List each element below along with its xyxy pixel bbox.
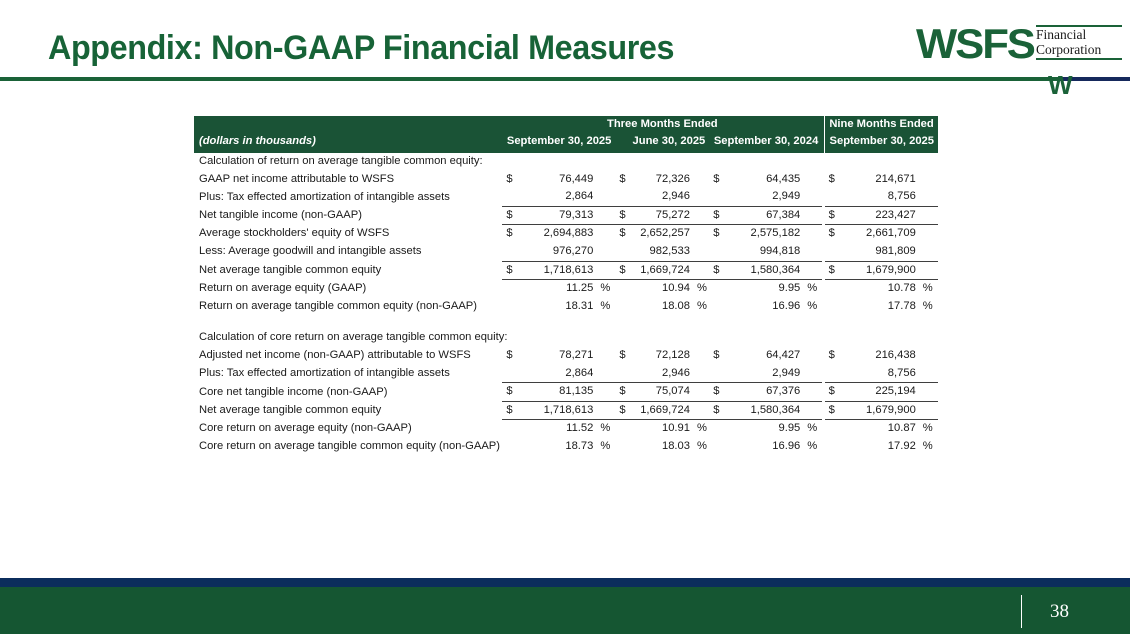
percent-symbol: %: [694, 280, 709, 298]
cell-value: 10.87: [841, 420, 920, 438]
currency-symbol: $: [825, 261, 841, 280]
cell-value: 2,864: [518, 188, 597, 206]
table-row: Return on average equity (GAAP)11.25%10.…: [194, 280, 938, 298]
percent-symbol: [804, 188, 822, 206]
row-label: Return on average tangible common equity…: [194, 298, 502, 316]
percent-symbol: [694, 383, 709, 402]
currency-symbol: [709, 365, 725, 383]
percent-symbol: %: [694, 298, 709, 316]
section-heading: Calculation of core return on average ta…: [194, 329, 938, 347]
percent-symbol: [920, 206, 938, 225]
cell-value: 225,194: [841, 383, 920, 402]
cell-value: 8,756: [841, 188, 920, 206]
table-row: Plus: Tax effected amortization of intan…: [194, 365, 938, 383]
cell-value: 9.95: [725, 420, 804, 438]
page-title: Appendix: Non-GAAP Financial Measures: [48, 29, 674, 68]
cell-value: 17.92: [841, 438, 920, 456]
section-heading-row: Calculation of return on average tangibl…: [194, 153, 938, 171]
group-header-nine-months: Nine Months Ended: [825, 116, 938, 132]
percent-symbol: %: [920, 420, 938, 438]
cell-value: 18.31: [518, 298, 597, 316]
row-label: Plus: Tax effected amortization of intan…: [194, 365, 502, 383]
cell-value: 16.96: [725, 298, 804, 316]
currency-symbol: $: [502, 347, 518, 365]
percent-symbol: [597, 347, 615, 365]
currency-symbol: $: [502, 383, 518, 402]
cell-value: 2,949: [725, 188, 804, 206]
percent-symbol: [597, 225, 615, 243]
percent-symbol: [597, 243, 615, 261]
currency-symbol: $: [709, 347, 725, 365]
cell-value: 2,864: [518, 365, 597, 383]
percent-symbol: [694, 243, 709, 261]
cell-value: 1,580,364: [725, 261, 804, 280]
currency-symbol: [825, 420, 841, 438]
percent-symbol: [920, 243, 938, 261]
group-header-blank: [194, 116, 502, 132]
logo-chevron-w: W: [1048, 72, 1071, 98]
currency-symbol: [615, 420, 628, 438]
cell-value: 223,427: [841, 206, 920, 225]
currency-symbol: [502, 188, 518, 206]
percent-symbol: [804, 365, 822, 383]
percent-symbol: [694, 365, 709, 383]
cell-value: 17.78: [841, 298, 920, 316]
footer-divider: [1021, 595, 1022, 628]
logo-subtext-corporation: Corporation: [1036, 43, 1122, 58]
percent-symbol: [694, 347, 709, 365]
cell-value: 10.94: [628, 280, 694, 298]
percent-symbol: [597, 365, 615, 383]
table-body: Calculation of return on average tangibl…: [194, 153, 938, 456]
cell-value: 16.96: [725, 438, 804, 456]
currency-symbol: $: [709, 225, 725, 243]
currency-symbol: $: [502, 261, 518, 280]
cell-value: 216,438: [841, 347, 920, 365]
currency-symbol: $: [615, 383, 628, 402]
currency-symbol: [825, 243, 841, 261]
footer-navy-stripe: [0, 578, 1130, 587]
currency-symbol: [502, 298, 518, 316]
column-header-sep-2025: September 30, 2025: [502, 132, 615, 153]
cell-value: 11.25: [518, 280, 597, 298]
percent-symbol: [694, 225, 709, 243]
row-label: Core return on average tangible common e…: [194, 438, 502, 456]
section-spacer: [194, 315, 938, 329]
cell-value: 64,435: [725, 171, 804, 189]
logo-subtext-financial: Financial: [1036, 28, 1122, 43]
percent-symbol: %: [920, 438, 938, 456]
row-label: Net average tangible common equity: [194, 401, 502, 420]
percent-symbol: %: [694, 438, 709, 456]
currency-symbol: $: [709, 171, 725, 189]
currency-symbol: [825, 365, 841, 383]
percent-symbol: %: [920, 280, 938, 298]
currency-symbol: [709, 188, 725, 206]
currency-symbol: $: [615, 401, 628, 420]
row-label: Return on average equity (GAAP): [194, 280, 502, 298]
percent-symbol: [920, 401, 938, 420]
currency-symbol: [502, 365, 518, 383]
section-heading-row: Calculation of core return on average ta…: [194, 329, 938, 347]
cell-value: 2,949: [725, 365, 804, 383]
percent-symbol: [597, 206, 615, 225]
currency-symbol: $: [825, 171, 841, 189]
currency-symbol: [825, 280, 841, 298]
cell-value: 1,718,613: [518, 401, 597, 420]
cell-value: 2,652,257: [628, 225, 694, 243]
currency-symbol: [709, 438, 725, 456]
percent-symbol: %: [804, 438, 822, 456]
cell-value: 67,384: [725, 206, 804, 225]
table-row: Plus: Tax effected amortization of intan…: [194, 188, 938, 206]
percent-symbol: %: [597, 420, 615, 438]
table-row: Net average tangible common equity$1,718…: [194, 261, 938, 280]
cell-value: 2,694,883: [518, 225, 597, 243]
percent-symbol: [804, 206, 822, 225]
percent-symbol: [694, 261, 709, 280]
cell-value: 2,575,182: [725, 225, 804, 243]
cell-value: 72,326: [628, 171, 694, 189]
cell-value: 8,756: [841, 365, 920, 383]
cell-value: 981,809: [841, 243, 920, 261]
percent-symbol: %: [597, 280, 615, 298]
non-gaap-reconciliation-table: Three Months Ended Nine Months Ended (do…: [194, 116, 938, 456]
currency-symbol: [709, 420, 725, 438]
currency-symbol: [709, 243, 725, 261]
row-label: Adjusted net income (non-GAAP) attributa…: [194, 347, 502, 365]
percent-symbol: [920, 383, 938, 402]
currency-symbol: $: [502, 171, 518, 189]
cell-value: 75,272: [628, 206, 694, 225]
logo-wordmark: WSFS: [916, 24, 1034, 64]
column-header-jun-2025: June 30, 2025: [615, 132, 709, 153]
currency-symbol: $: [502, 206, 518, 225]
row-label: Core return on average equity (non-GAAP): [194, 420, 502, 438]
currency-symbol: [502, 420, 518, 438]
currency-symbol: [615, 243, 628, 261]
percent-symbol: [597, 188, 615, 206]
cell-value: 78,271: [518, 347, 597, 365]
currency-symbol: $: [825, 225, 841, 243]
cell-value: 1,679,900: [841, 261, 920, 280]
cell-value: 11.52: [518, 420, 597, 438]
table-row: Average stockholders' equity of WSFS$2,6…: [194, 225, 938, 243]
table-row: GAAP net income attributable to WSFS$76,…: [194, 171, 938, 189]
currency-symbol: $: [709, 206, 725, 225]
section-heading: Calculation of return on average tangibl…: [194, 153, 938, 171]
percent-symbol: %: [597, 298, 615, 316]
percent-symbol: [804, 225, 822, 243]
currency-symbol: $: [825, 347, 841, 365]
currency-symbol: [825, 298, 841, 316]
percent-symbol: [597, 261, 615, 280]
cell-value: 79,313: [518, 206, 597, 225]
table-row: Return on average tangible common equity…: [194, 298, 938, 316]
currency-symbol: $: [615, 171, 628, 189]
percent-symbol: [694, 401, 709, 420]
row-label: Net tangible income (non-GAAP): [194, 206, 502, 225]
currency-symbol: [615, 280, 628, 298]
slide-header: Appendix: Non-GAAP Financial Measures WS…: [0, 0, 1130, 100]
currency-symbol: [615, 188, 628, 206]
percent-symbol: [920, 225, 938, 243]
cell-value: 1,669,724: [628, 261, 694, 280]
cell-value: 982,533: [628, 243, 694, 261]
row-label: Plus: Tax effected amortization of intan…: [194, 188, 502, 206]
table-row: Core return on average equity (non-GAAP)…: [194, 420, 938, 438]
currency-symbol: [709, 298, 725, 316]
cell-value: 2,661,709: [841, 225, 920, 243]
currency-symbol: $: [502, 401, 518, 420]
cell-value: 10.91: [628, 420, 694, 438]
percent-symbol: [804, 401, 822, 420]
column-header-ytd-sep-2025: September 30, 2025: [825, 132, 938, 153]
cell-value: 76,449: [518, 171, 597, 189]
percent-symbol: [694, 206, 709, 225]
row-label: Net average tangible common equity: [194, 261, 502, 280]
percent-symbol: %: [804, 420, 822, 438]
cell-value: 1,718,613: [518, 261, 597, 280]
units-note: (dollars in thousands): [194, 132, 502, 153]
cell-value: 2,946: [628, 365, 694, 383]
group-header-three-months: Three Months Ended: [502, 116, 822, 132]
currency-symbol: [615, 438, 628, 456]
cell-value: 64,427: [725, 347, 804, 365]
table-row: Core net tangible income (non-GAAP)$81,1…: [194, 383, 938, 402]
table-column-header-row: (dollars in thousands) September 30, 202…: [194, 132, 938, 153]
currency-symbol: $: [615, 347, 628, 365]
cell-value: 10.78: [841, 280, 920, 298]
wsfs-logo: WSFS Financial Corporation: [916, 24, 1122, 64]
currency-symbol: $: [709, 383, 725, 402]
currency-symbol: [825, 438, 841, 456]
cell-value: 18.08: [628, 298, 694, 316]
row-label: Less: Average goodwill and intangible as…: [194, 243, 502, 261]
percent-symbol: [804, 171, 822, 189]
percent-symbol: %: [804, 298, 822, 316]
percent-symbol: [920, 188, 938, 206]
percent-symbol: %: [597, 438, 615, 456]
cell-value: 1,679,900: [841, 401, 920, 420]
currency-symbol: $: [615, 261, 628, 280]
percent-symbol: %: [804, 280, 822, 298]
cell-value: 81,135: [518, 383, 597, 402]
cell-value: 976,270: [518, 243, 597, 261]
currency-symbol: $: [825, 206, 841, 225]
table-row: Adjusted net income (non-GAAP) attributa…: [194, 347, 938, 365]
cell-value: 1,669,724: [628, 401, 694, 420]
percent-symbol: [920, 347, 938, 365]
percent-symbol: [804, 261, 822, 280]
percent-symbol: [694, 188, 709, 206]
percent-symbol: [804, 243, 822, 261]
currency-symbol: $: [502, 225, 518, 243]
percent-symbol: [920, 171, 938, 189]
currency-symbol: [615, 365, 628, 383]
percent-symbol: [920, 261, 938, 280]
footer-band: [0, 587, 1130, 634]
currency-symbol: [502, 280, 518, 298]
table-group-header-row: Three Months Ended Nine Months Ended: [194, 116, 938, 132]
cell-value: 214,671: [841, 171, 920, 189]
percent-symbol: [920, 365, 938, 383]
currency-symbol: $: [825, 401, 841, 420]
cell-value: 18.73: [518, 438, 597, 456]
currency-symbol: [502, 243, 518, 261]
cell-value: 1,580,364: [725, 401, 804, 420]
logo-subtext-block: Financial Corporation: [1036, 24, 1122, 60]
row-label: Average stockholders' equity of WSFS: [194, 225, 502, 243]
table-row: Core return on average tangible common e…: [194, 438, 938, 456]
percent-symbol: [597, 171, 615, 189]
cell-value: 18.03: [628, 438, 694, 456]
currency-symbol: $: [615, 206, 628, 225]
currency-symbol: [502, 438, 518, 456]
percent-symbol: %: [920, 298, 938, 316]
header-rule: [0, 77, 1130, 81]
currency-symbol: $: [825, 383, 841, 402]
percent-symbol: [597, 383, 615, 402]
row-label: Core net tangible income (non-GAAP): [194, 383, 502, 402]
percent-symbol: [804, 347, 822, 365]
row-label: GAAP net income attributable to WSFS: [194, 171, 502, 189]
table-row: Net tangible income (non-GAAP)$79,313$75…: [194, 206, 938, 225]
percent-symbol: [597, 401, 615, 420]
currency-symbol: $: [615, 225, 628, 243]
cell-value: 994,818: [725, 243, 804, 261]
table-row: Less: Average goodwill and intangible as…: [194, 243, 938, 261]
currency-symbol: [709, 280, 725, 298]
cell-value: 2,946: [628, 188, 694, 206]
logo-rule-bottom: [1036, 58, 1122, 60]
cell-value: 9.95: [725, 280, 804, 298]
currency-symbol: $: [709, 401, 725, 420]
cell-value: 72,128: [628, 347, 694, 365]
cell-value: 67,376: [725, 383, 804, 402]
cell-value: 75,074: [628, 383, 694, 402]
currency-symbol: [615, 298, 628, 316]
percent-symbol: %: [694, 420, 709, 438]
currency-symbol: [825, 188, 841, 206]
page-number: 38: [1050, 595, 1100, 628]
table-row: Net average tangible common equity$1,718…: [194, 401, 938, 420]
column-header-sep-2024: September 30, 2024: [709, 132, 822, 153]
currency-symbol: $: [709, 261, 725, 280]
percent-symbol: [804, 383, 822, 402]
percent-symbol: [694, 171, 709, 189]
